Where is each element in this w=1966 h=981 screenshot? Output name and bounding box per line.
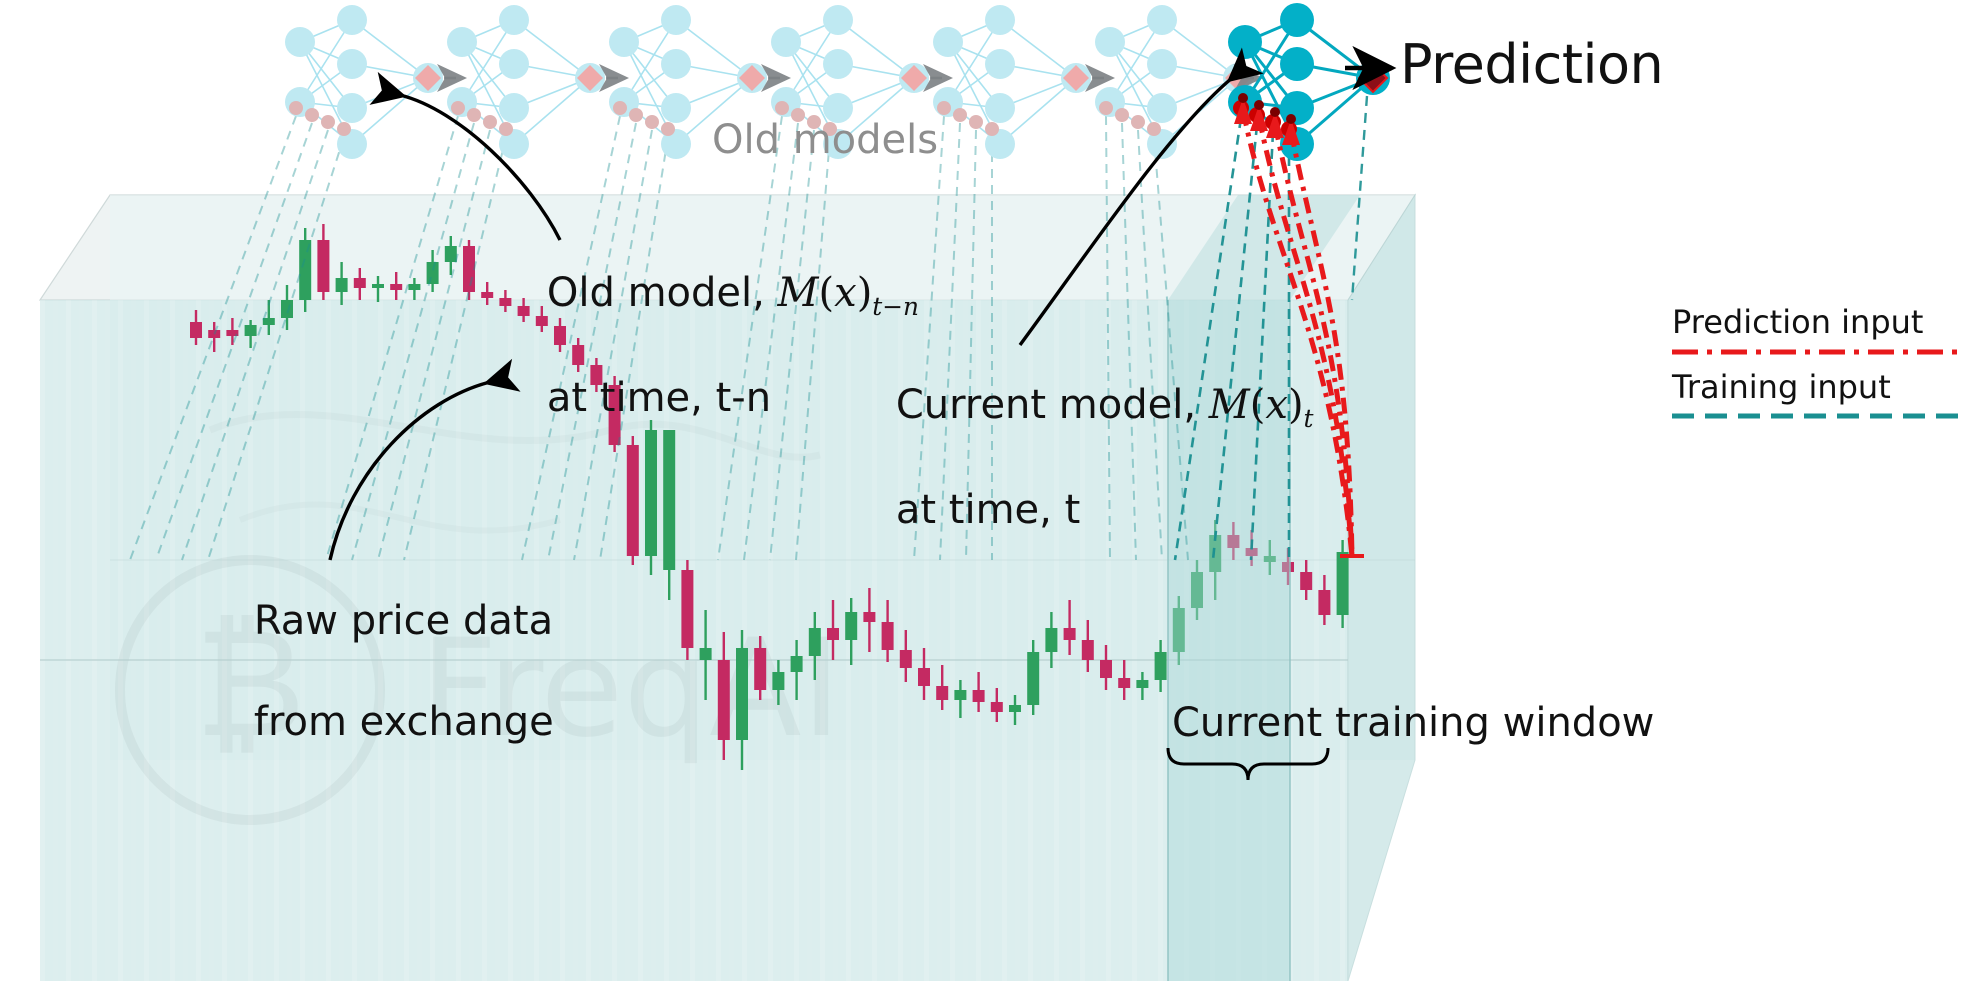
figure-root: #f2f4f4 #d7ecec #ffffff ₿ FreqAI — [0, 0, 1966, 981]
annotation-training-window: Current training window — [1172, 700, 1654, 746]
annotation-raw-price-line2: from exchange — [254, 699, 554, 745]
prediction-output-label: Prediction — [1400, 33, 1663, 96]
annotation-raw-price-data: Raw price data from exchange — [203, 546, 554, 798]
annotation-current-model-line1: Current model, M(x)t — [896, 382, 1314, 428]
annotation-current-model-line2: at time, t — [896, 487, 1080, 533]
legend-label-prediction-input: Prediction input — [1672, 303, 1923, 341]
annotation-raw-price-line1: Raw price data — [254, 598, 553, 644]
annotation-old-model-line2: at time, t-n — [547, 375, 771, 421]
old-models-label: Old models — [712, 117, 938, 163]
legend-label-training-input: Training input — [1672, 368, 1891, 406]
annotation-old-model-line1: Old model, M(x)t−n — [547, 270, 919, 316]
annotation-current-model: Current model, M(x)t at time, t — [845, 330, 1314, 586]
